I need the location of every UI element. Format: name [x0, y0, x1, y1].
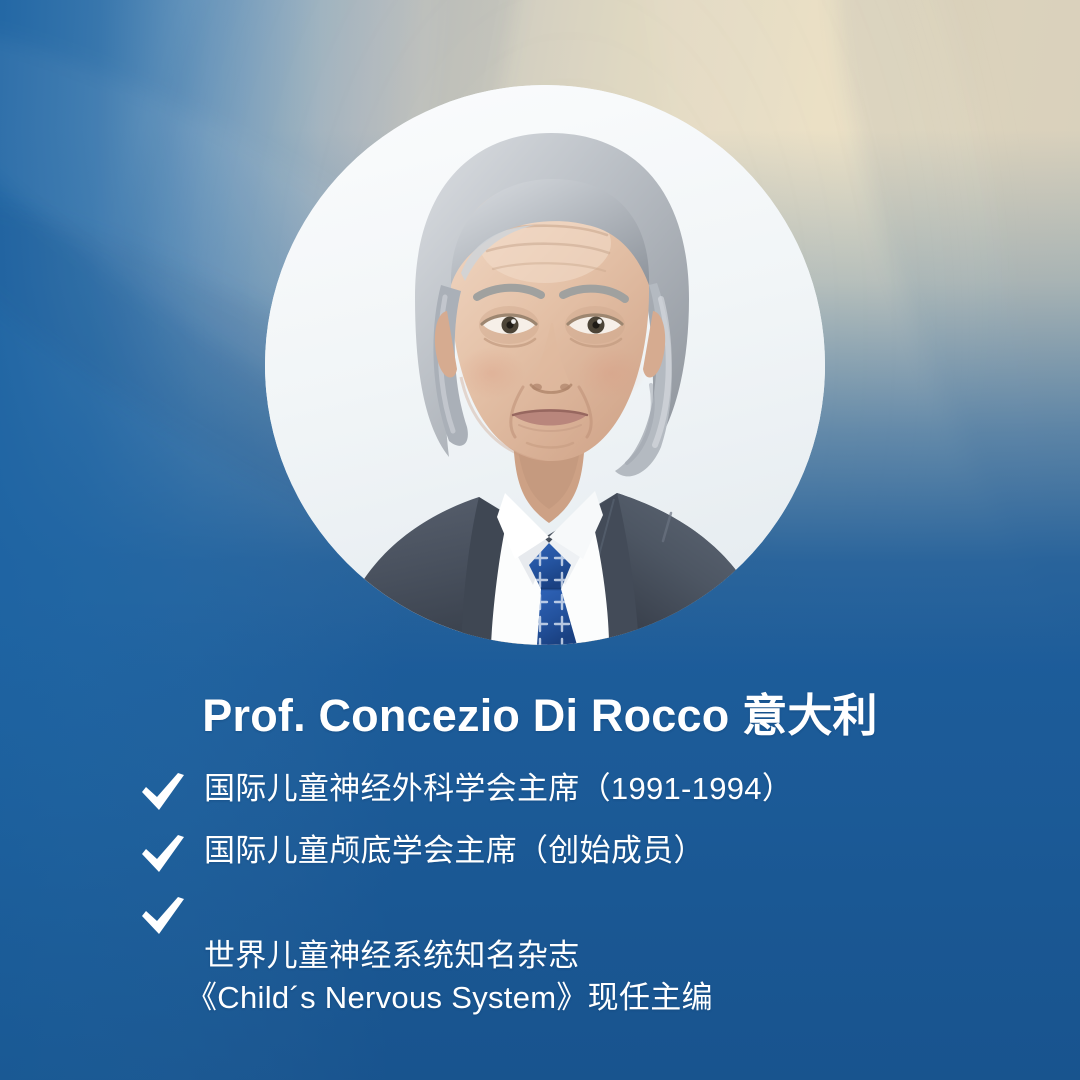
credential-line-1: 世界儿童神经系统知名杂志 [204, 938, 580, 973]
credential-line-2: 《Child´s Nervous System》现任主编 [186, 977, 713, 1020]
credential-text: 国际儿童神经外科学会主席（1991-1994） [204, 768, 793, 811]
credential-text: 国际儿童颅底学会主席（创始成员） [204, 830, 705, 873]
credential-list: 国际儿童神经外科学会主席（1991-1994） 国际儿童颅底学会主席（创始成员） [56, 768, 1024, 1063]
check-icon [140, 834, 186, 874]
credential-text: 世界儿童神经系统知名杂志 《Child´s Nervous System》现任主… [204, 892, 713, 1063]
profile-text-block: Prof. Concezio Di Rocco 意大利 国际儿童神经外科学会主席… [0, 690, 1080, 1063]
list-item: 国际儿童神经外科学会主席（1991-1994） [140, 768, 1024, 812]
list-item: 国际儿童颅底学会主席（创始成员） [140, 830, 1024, 874]
check-icon [140, 772, 186, 812]
page-title: Prof. Concezio Di Rocco 意大利 [56, 690, 1024, 742]
list-item: 世界儿童神经系统知名杂志 《Child´s Nervous System》现任主… [140, 892, 1024, 1063]
check-icon [140, 896, 186, 936]
speaker-profile-card: Prof. Concezio Di Rocco 意大利 国际儿童神经外科学会主席… [0, 0, 1080, 1080]
portrait-illustration [265, 85, 825, 645]
portrait-photo [265, 85, 825, 645]
